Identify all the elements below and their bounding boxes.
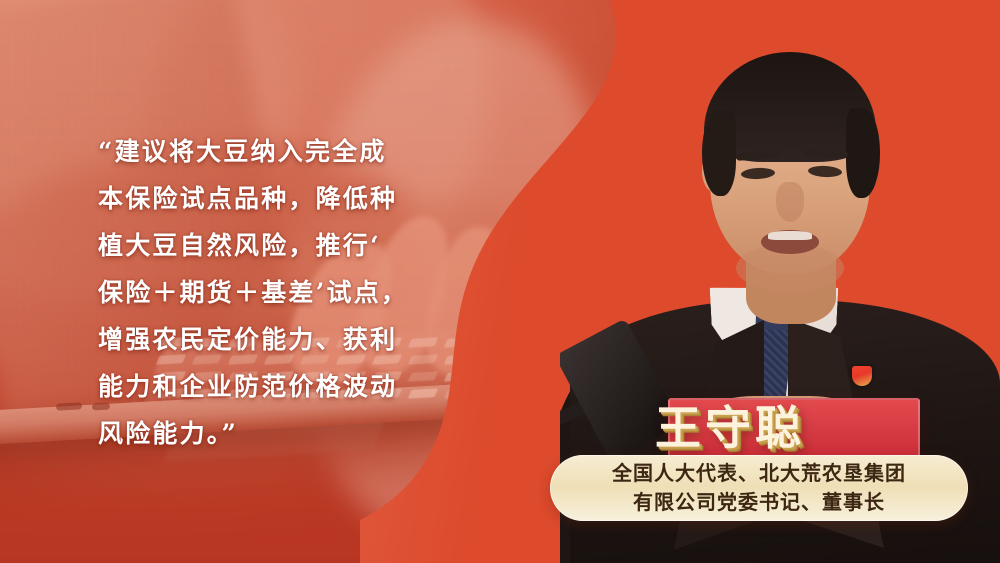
speaker-name: 王守聪 bbox=[655, 392, 805, 458]
quote-line-6: 能力和企业防范价格波动 bbox=[98, 363, 458, 410]
quote-line-3: 植大豆自然风险，推行‘ bbox=[98, 222, 458, 269]
quote-line-7: 风险能力。” bbox=[98, 410, 458, 457]
lapel-pin-icon bbox=[852, 366, 872, 386]
quote-line-5: 增强农民定价能力、获利 bbox=[98, 316, 458, 363]
quote-line-1: “建议将大豆纳入完全成 bbox=[98, 128, 458, 175]
quote-line-2: 本保险试点品种，降低种 bbox=[98, 175, 458, 222]
speaker-title-line-2: 有限公司党委书记、董事长 bbox=[633, 488, 885, 517]
nose bbox=[776, 182, 804, 222]
speaker-title-line-1: 全国人大代表、北大荒农垦集团 bbox=[612, 459, 906, 488]
teeth bbox=[768, 231, 812, 240]
quote-text: “建议将大豆纳入完全成 本保险试点品种，降低种 植大豆自然风险，推行‘ 保险＋期… bbox=[98, 128, 458, 457]
hair-side-left bbox=[702, 110, 736, 196]
hair-side-right bbox=[846, 108, 880, 198]
speaker-title-badge: 全国人大代表、北大荒农垦集团 有限公司党委书记、董事长 bbox=[550, 455, 968, 521]
quote-line-4: 保险＋期货＋基差’试点， bbox=[98, 269, 458, 316]
news-quote-card: “建议将大豆纳入完全成 本保险试点品种，降低种 植大豆自然风险，推行‘ 保险＋期… bbox=[0, 0, 1000, 563]
